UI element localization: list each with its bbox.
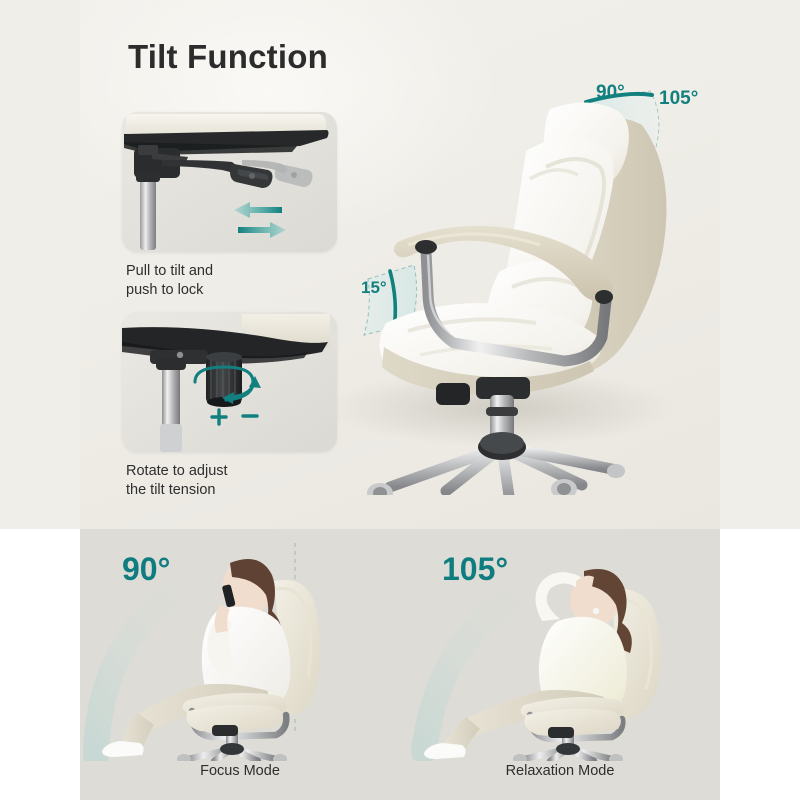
- modes-container: 90° Focus Mode: [80, 529, 720, 800]
- mode-panel-focus: 90° Focus Mode: [80, 529, 400, 800]
- office-chair-side-view: [350, 55, 720, 495]
- detail-photo-tension-knob: [122, 312, 337, 452]
- mode-angle-focus: 90°: [122, 551, 170, 588]
- angle-label-15: 15°: [361, 278, 387, 298]
- detail-photo-tilt-lever: [122, 112, 337, 252]
- mode-angle-relaxation: 105°: [442, 551, 508, 588]
- mode-caption-relaxation: Relaxation Mode: [400, 763, 720, 779]
- mode-caption-focus: Focus Mode: [80, 763, 400, 779]
- angle-label-105: 105°: [659, 88, 698, 110]
- main-chair-photo: [350, 55, 720, 495]
- tension-knob-illustration: [122, 312, 337, 452]
- chair-star-base: [390, 432, 612, 495]
- tilt-lever-illustration: [122, 112, 337, 252]
- bottom-section: 90° Focus Mode: [0, 529, 800, 800]
- infographic-page: Tilt Function: [0, 0, 800, 800]
- mode-panel-relaxation: 105° Relaxation Mode: [400, 529, 720, 800]
- top-section: Tilt Function: [0, 0, 800, 529]
- caption-tilt-lever: Pull to tilt and push to lock: [126, 262, 356, 300]
- angle-label-90: 90°: [596, 82, 625, 104]
- caption-tension-knob: Rotate to adjust the tilt tension: [126, 462, 356, 500]
- page-title: Tilt Function: [128, 38, 328, 76]
